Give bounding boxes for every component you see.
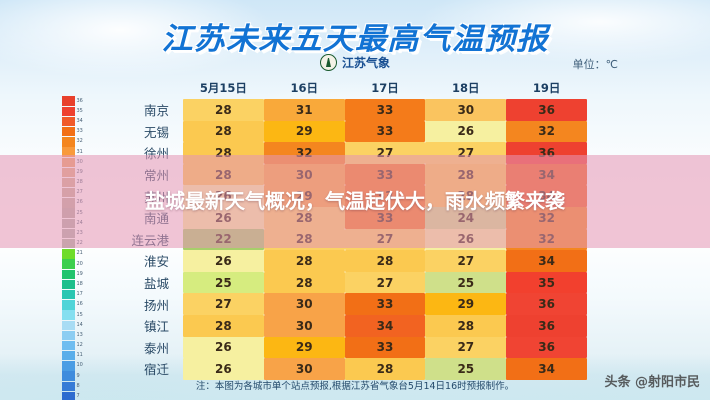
header-date-cells: 5月15日16日17日18日19日 [180, 80, 590, 99]
weather-forecast-poster: 江苏未来五天最高气温预报 江苏气象 单位：℃ 36353433323130292… [0, 0, 710, 400]
temperature-cell: 30 [264, 358, 345, 380]
temperature-cell: 33 [345, 99, 426, 121]
temperature-cell: 34 [506, 250, 587, 272]
temperature-cell: 28 [345, 250, 426, 272]
legend-segment: 19 [62, 269, 88, 279]
column-header-date-1: 16日 [264, 80, 345, 99]
legend-segment: 17 [62, 290, 88, 300]
legend-segment: 11 [62, 351, 88, 361]
legend-value: 18 [77, 282, 83, 287]
legend-segment: 34 [62, 116, 88, 126]
temperature-cell: 28 [183, 99, 264, 121]
legend-value: 13 [77, 333, 83, 338]
temperature-cells: 2829332632 [180, 121, 590, 143]
legend-segment: 18 [62, 279, 88, 289]
legend-value: 16 [77, 302, 83, 307]
legend-swatch [62, 96, 75, 105]
legend-swatch [62, 127, 75, 136]
legend-segment: 36 [62, 96, 88, 106]
temperature-cell: 25 [425, 358, 506, 380]
column-header-date-4: 19日 [506, 80, 587, 99]
legend-swatch [62, 300, 75, 309]
temperature-cell: 36 [506, 337, 587, 359]
temperature-cell: 27 [183, 293, 264, 315]
legend-swatch [62, 137, 75, 146]
column-header-date-0: 5月15日 [183, 80, 264, 99]
legend-value: 31 [77, 150, 83, 155]
city-label-扬州: 扬州 [118, 295, 180, 314]
legend-swatch [62, 270, 75, 279]
legend-value: 34 [77, 119, 83, 124]
temperature-cell: 29 [425, 293, 506, 315]
legend-segment: 32 [62, 137, 88, 147]
legend-value: 36 [77, 99, 83, 104]
temperature-cells: 2628282734 [180, 250, 590, 272]
temperature-cells: 2629332736 [180, 337, 590, 359]
legend-value: 12 [77, 343, 83, 348]
city-label-宿迁: 宿迁 [118, 359, 180, 378]
temperature-cell: 29 [264, 337, 345, 359]
legend-value: 20 [77, 262, 83, 267]
legend-value: 32 [77, 139, 83, 144]
legend-swatch [62, 249, 75, 258]
legend-segment: 35 [62, 106, 88, 116]
temperature-cells: 2830342836 [180, 315, 590, 337]
table-row: 宿迁2630282534 [118, 358, 590, 380]
legend-segment: 10 [62, 361, 88, 371]
legend-swatch [62, 117, 75, 126]
legend-segment: 12 [62, 341, 88, 351]
legend-swatch [62, 280, 75, 289]
temperature-cell: 35 [506, 272, 587, 294]
temperature-cells: 2528272535 [180, 272, 590, 294]
legend-swatch [62, 392, 75, 400]
legend-segment: 7 [62, 391, 88, 400]
table-row: 淮安2628282734 [118, 250, 590, 272]
temperature-cell: 30 [264, 315, 345, 337]
source-label: 江苏气象 [342, 54, 390, 71]
city-label-南京: 南京 [118, 100, 180, 119]
legend-value: 15 [77, 313, 83, 318]
table-row: 镇江2830342836 [118, 315, 590, 337]
temperature-cell: 36 [506, 315, 587, 337]
legend-swatch [62, 107, 75, 116]
table-row: 无锡2829332632 [118, 121, 590, 143]
legend-value: 14 [77, 323, 83, 328]
temperature-cell: 26 [425, 121, 506, 143]
temperature-cell: 30 [264, 293, 345, 315]
legend-swatch [62, 361, 75, 370]
legend-swatch [62, 351, 75, 360]
city-label-无锡: 无锡 [118, 122, 180, 141]
legend-segment: 16 [62, 300, 88, 310]
legend-value: 21 [77, 251, 83, 256]
temperature-cell: 33 [345, 337, 426, 359]
legend-segment: 33 [62, 127, 88, 137]
temperature-cell: 28 [183, 315, 264, 337]
temperature-cell: 27 [425, 250, 506, 272]
legend-swatch [62, 341, 75, 350]
temperature-cell: 28 [264, 250, 345, 272]
temperature-cell: 33 [345, 293, 426, 315]
legend-swatch [62, 259, 75, 268]
legend-swatch [62, 290, 75, 299]
temperature-cell: 29 [264, 121, 345, 143]
temperature-cell: 28 [425, 315, 506, 337]
legend-segment: 21 [62, 249, 88, 259]
temperature-cells: 2831333036 [180, 99, 590, 121]
temperature-cell: 34 [345, 315, 426, 337]
temperature-cell: 26 [183, 358, 264, 380]
temperature-cell: 31 [264, 99, 345, 121]
city-label-镇江: 镇江 [118, 316, 180, 335]
watermark: 头条 @射阳市民 [604, 371, 700, 390]
temperature-cell: 30 [425, 99, 506, 121]
table-row: 泰州2629332736 [118, 337, 590, 359]
city-label-盐城: 盐城 [118, 273, 180, 292]
legend-segment: 14 [62, 320, 88, 330]
temperature-cell: 32 [506, 121, 587, 143]
temperature-cell: 28 [345, 358, 426, 380]
legend-segment: 20 [62, 259, 88, 269]
temperature-color-legend: 3635343332313029282726252423222120191817… [62, 96, 88, 400]
city-label-泰州: 泰州 [118, 338, 180, 357]
legend-value: 19 [77, 272, 83, 277]
temperature-cell: 33 [345, 121, 426, 143]
city-label-淮安: 淮安 [118, 251, 180, 270]
temperature-cell: 26 [183, 250, 264, 272]
temperature-cell: 27 [345, 272, 426, 294]
temperature-cell: 28 [264, 272, 345, 294]
temperature-cells: 2630282534 [180, 358, 590, 380]
legend-swatch [62, 321, 75, 330]
temperature-cell: 27 [425, 337, 506, 359]
column-header-date-3: 18日 [425, 80, 506, 99]
legend-value: 11 [77, 353, 83, 358]
legend-value: 10 [77, 363, 83, 368]
table-header-row: 5月15日16日17日18日19日 [118, 80, 590, 99]
legend-value: 35 [77, 109, 83, 114]
legend-segment: 15 [62, 310, 88, 320]
temperature-cell: 34 [506, 358, 587, 380]
temperature-cell: 26 [183, 337, 264, 359]
temperature-cell: 36 [506, 293, 587, 315]
temperature-cells: 2730332936 [180, 293, 590, 315]
watermark-text: 头条 @射阳市民 [604, 371, 700, 390]
column-header-date-2: 17日 [345, 80, 426, 99]
legend-swatch [62, 331, 75, 340]
legend-value: 7 [77, 394, 80, 399]
legend-value: 17 [77, 292, 83, 297]
caption-overlay: 盐城最新天气概况，气温起伏大，雨水频繁来袭 [0, 155, 710, 248]
temperature-cell: 25 [425, 272, 506, 294]
table-row: 盐城2528272535 [118, 272, 590, 294]
unit-label: 单位：℃ [573, 56, 618, 72]
legend-segment: 13 [62, 330, 88, 340]
page-title: 江苏未来五天最高气温预报 [0, 14, 710, 58]
legend-value: 33 [77, 129, 83, 134]
temperature-cell: 36 [506, 99, 587, 121]
table-row: 南京2831333036 [118, 99, 590, 121]
table-row: 扬州2730332936 [118, 293, 590, 315]
jiangsu-meteorology-logo-icon [320, 54, 337, 71]
legend-swatch [62, 310, 75, 319]
temperature-cell: 28 [183, 121, 264, 143]
caption-text: 盐城最新天气概况，气温起伏大，雨水频繁来袭 [145, 187, 565, 215]
temperature-cell: 25 [183, 272, 264, 294]
